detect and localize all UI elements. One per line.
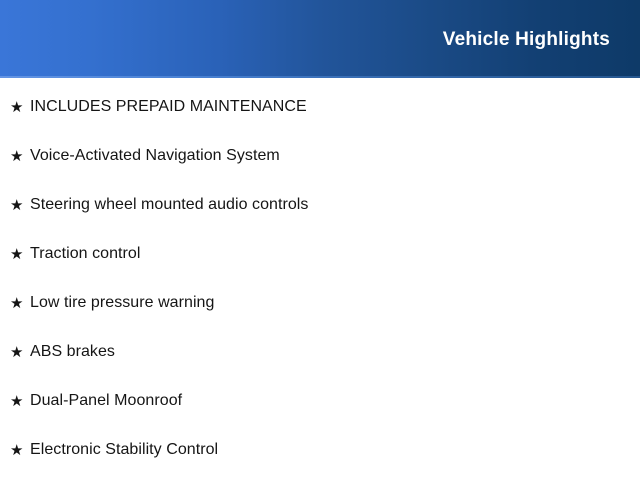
- star-icon: ★: [10, 149, 30, 164]
- list-item-label: Electronic Stability Control: [30, 441, 218, 459]
- page-title: Vehicle Highlights: [443, 30, 640, 49]
- list-item-label: Dual-Panel Moonroof: [30, 392, 182, 410]
- list-item: ★ Low tire pressure warning: [0, 279, 640, 328]
- list-item-label: Steering wheel mounted audio controls: [30, 196, 308, 214]
- vehicle-highlights-page: Vehicle Highlights ★ INCLUDES PREPAID MA…: [0, 0, 640, 480]
- list-item-label: ABS brakes: [30, 343, 115, 361]
- star-icon: ★: [10, 345, 30, 360]
- vehicle-highlights-list: ★ INCLUDES PREPAID MAINTENANCE ★ Voice-A…: [0, 78, 640, 480]
- list-item-label: INCLUDES PREPAID MAINTENANCE: [30, 98, 307, 116]
- header-banner: Vehicle Highlights: [0, 0, 640, 78]
- star-icon: ★: [10, 443, 30, 458]
- star-icon: ★: [10, 247, 30, 262]
- list-item: ★ Traction control: [0, 230, 640, 279]
- star-icon: ★: [10, 296, 30, 311]
- list-item: ★ Steering wheel mounted audio controls: [0, 181, 640, 230]
- list-item-label: Low tire pressure warning: [30, 294, 214, 312]
- list-item: ★ ABS brakes: [0, 328, 640, 377]
- star-icon: ★: [10, 198, 30, 213]
- list-item: ★ Dual-Panel Moonroof: [0, 377, 640, 426]
- star-icon: ★: [10, 100, 30, 115]
- list-item: ★ Voice-Activated Navigation System: [0, 132, 640, 181]
- list-item-label: Traction control: [30, 245, 140, 263]
- list-item: ★ INCLUDES PREPAID MAINTENANCE: [0, 83, 640, 132]
- list-item: ★ Electronic Stability Control: [0, 426, 640, 475]
- list-item-label: Voice-Activated Navigation System: [30, 147, 280, 165]
- star-icon: ★: [10, 394, 30, 409]
